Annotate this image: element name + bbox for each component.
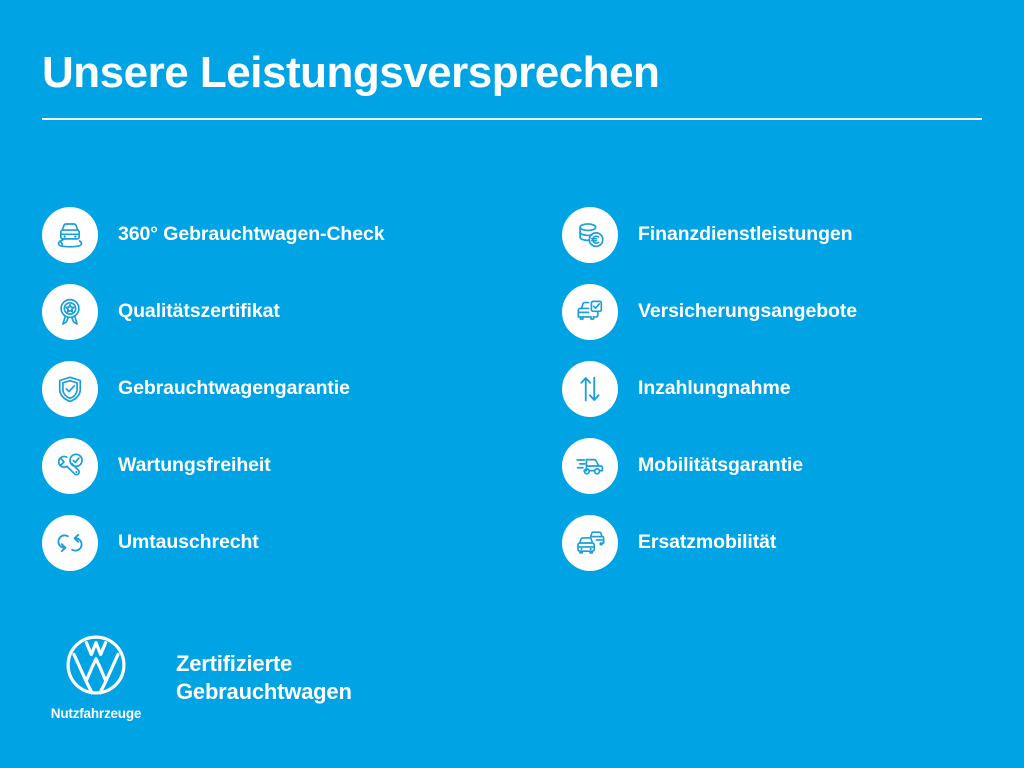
arrows-up-down-icon	[562, 361, 618, 417]
two-cars-icon	[562, 515, 618, 571]
brand-claim-line2: Gebrauchtwagen	[176, 678, 352, 706]
benefit-label: Umtauschrecht	[118, 531, 259, 554]
volkswagen-logo-icon	[65, 634, 127, 696]
title-divider	[42, 118, 982, 120]
benefit-item: Ersatzmobilität	[562, 504, 982, 581]
benefit-item: Qualitätszertifikat	[42, 273, 562, 350]
benefit-label: Wartungsfreiheit	[118, 454, 271, 477]
benefit-label: Ersatzmobilität	[638, 531, 776, 554]
benefit-label: Inzahlungnahme	[638, 377, 790, 400]
benefit-item: Finanzdienstleistungen	[562, 196, 982, 273]
benefit-label: 360° Gebrauchtwagen-Check	[118, 223, 384, 246]
benefit-item: Gebrauchtwagengarantie	[42, 350, 562, 427]
shield-check-icon	[42, 361, 98, 417]
brand-claim-line1: Zertifizierte	[176, 650, 352, 678]
benefit-item: 360° Gebrauchtwagen-Check	[42, 196, 562, 273]
coins-euro-icon	[562, 207, 618, 263]
award-rosette-icon	[42, 284, 98, 340]
benefits-grid: 360° Gebrauchtwagen-Check Finanzdienstle…	[42, 196, 982, 581]
brand-lockup: Nutzfahrzeuge Zertifizierte Gebrauchtwag…	[42, 634, 352, 721]
van-speed-icon	[562, 438, 618, 494]
car-360-check-icon	[42, 207, 98, 263]
benefit-label: Finanzdienstleistungen	[638, 223, 852, 246]
benefit-item: Umtauschrecht	[42, 504, 562, 581]
benefit-item: Inzahlungnahme	[562, 350, 982, 427]
benefit-item: Mobilitätsgarantie	[562, 427, 982, 504]
brand-mark: Nutzfahrzeuge	[42, 634, 150, 721]
benefit-item: Wartungsfreiheit	[42, 427, 562, 504]
benefit-label: Gebrauchtwagengarantie	[118, 377, 350, 400]
slide-root: Unsere Leistungsversprechen 360° Gebrauc…	[0, 0, 1024, 768]
benefit-label: Versicherungsangebote	[638, 300, 857, 323]
benefit-label: Mobilitätsgarantie	[638, 454, 803, 477]
benefit-label: Qualitätszertifikat	[118, 300, 280, 323]
exchange-arrows-icon	[42, 515, 98, 571]
brand-claim: Zertifizierte Gebrauchtwagen	[176, 650, 352, 706]
wrench-check-icon	[42, 438, 98, 494]
page-title: Unsere Leistungsversprechen	[42, 50, 982, 96]
benefit-item: Versicherungsangebote	[562, 273, 982, 350]
car-checkbox-icon	[562, 284, 618, 340]
brand-sub-label: Nutzfahrzeuge	[51, 706, 141, 721]
header: Unsere Leistungsversprechen	[42, 50, 982, 120]
